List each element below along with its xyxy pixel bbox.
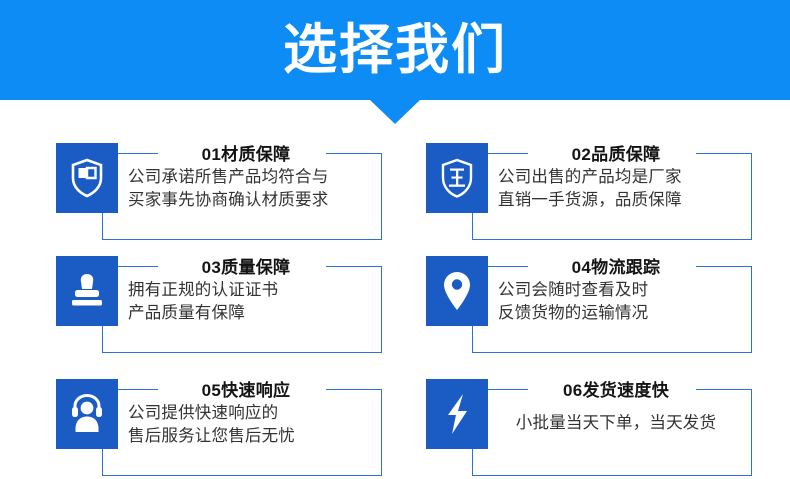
card-body-line: 小批量当天下单，当天发货 — [498, 412, 734, 435]
feature-card-01[interactable]: 01材质保障 公司承诺所售产品均符合与 买家事先协商确认材质要求 — [42, 140, 382, 240]
card-body-line: 公司提供快速响应的 — [128, 402, 374, 425]
card-body-line: 公司承诺所售产品均符合与 — [128, 166, 374, 189]
card-body-line: 拥有正规的认证证书 — [128, 279, 374, 302]
card-body-line: 公司出售的产品均是厂家 — [498, 166, 744, 189]
map-pin-icon — [441, 270, 473, 312]
icon-tile — [426, 143, 488, 213]
banner-notch-triangle — [370, 100, 420, 124]
shield-icon — [70, 158, 104, 198]
card-title: 04物流跟踪 — [516, 253, 716, 278]
card-body: 公司提供快速响应的 售后服务让您售后无忧 — [128, 402, 374, 448]
card-title: 05快速响应 — [146, 376, 346, 401]
card-body: 公司会随时查看及时 反馈货物的运输情况 — [498, 279, 744, 325]
card-body-line: 公司会随时查看及时 — [498, 279, 744, 302]
feature-card-04[interactable]: 04物流跟踪 公司会随时查看及时 反馈货物的运输情况 — [412, 253, 752, 353]
header-banner: 选择我们 — [0, 0, 790, 100]
icon-tile — [56, 256, 118, 326]
card-body-line: 买家事先协商确认材质要求 — [128, 189, 374, 212]
feature-card-03[interactable]: 03质量保障 拥有正规的认证证书 产品质量有保障 — [42, 253, 382, 353]
feature-card-05[interactable]: 05快速响应 公司提供快速响应的 售后服务让您售后无忧 — [42, 376, 382, 476]
icon-tile — [56, 143, 118, 213]
icon-tile — [426, 256, 488, 326]
card-body-line: 直销一手货源，品质保障 — [498, 189, 744, 212]
icon-tile — [56, 379, 118, 449]
card-body-line: 产品质量有保障 — [128, 302, 374, 325]
icon-tile — [426, 379, 488, 449]
lightning-bolt-icon — [443, 392, 471, 436]
shield-zheng-icon — [439, 157, 475, 199]
page-title: 选择我们 — [0, 0, 790, 100]
card-title: 02品质保障 — [516, 140, 716, 165]
feature-card-02[interactable]: 02品质保障 公司出售的产品均是厂家 直销一手货源，品质保障 — [412, 140, 752, 240]
stamp-icon — [68, 271, 106, 311]
card-body: 公司承诺所售产品均符合与 买家事先协商确认材质要求 — [128, 166, 374, 212]
card-body: 拥有正规的认证证书 产品质量有保障 — [128, 279, 374, 325]
card-title: 03质量保障 — [146, 253, 346, 278]
card-title: 01材质保障 — [146, 140, 346, 165]
headset-agent-icon — [68, 393, 106, 435]
card-body: 公司出售的产品均是厂家 直销一手货源，品质保障 — [498, 166, 744, 212]
card-body-line: 售后服务让您售后无忧 — [128, 425, 374, 448]
card-body: 小批量当天下单，当天发货 — [498, 412, 744, 435]
feature-card-06[interactable]: 06发货速度快 小批量当天下单，当天发货 — [412, 376, 752, 476]
feature-card-grid: 01材质保障 公司承诺所售产品均符合与 买家事先协商确认材质要求 — [0, 128, 790, 478]
card-body-line: 反馈货物的运输情况 — [498, 302, 744, 325]
card-title: 06发货速度快 — [516, 376, 716, 401]
